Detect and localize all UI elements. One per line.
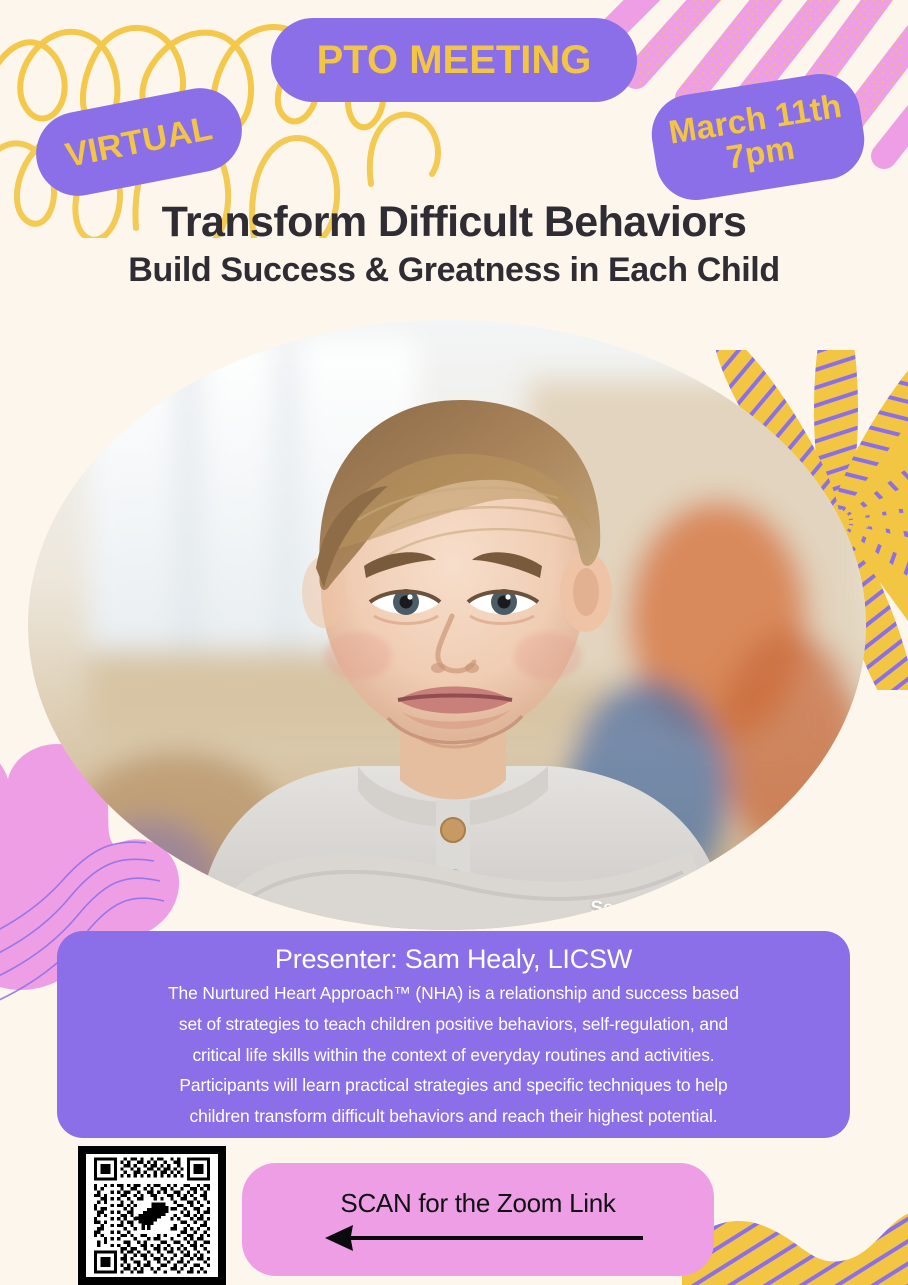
qr-code[interactable] <box>78 1146 226 1285</box>
badge-pto-meeting-label: PTO MEETING <box>317 40 592 81</box>
badge-pto-meeting: PTO MEETING <box>271 18 637 102</box>
hero-photo: Second Step® <box>28 320 866 930</box>
presenter-name: Presenter: Sam Healy, LICSW <box>79 941 828 977</box>
arrow-left-icon <box>313 1225 643 1251</box>
badge-date-time: March 11th 7pm <box>646 68 870 206</box>
dinosaur-icon <box>135 1201 170 1234</box>
hero-photo-image <box>28 320 866 930</box>
description-line: Participants will learn practical strate… <box>79 1070 828 1101</box>
info-panel: Presenter: Sam Healy, LICSW The Nurtured… <box>57 931 850 1138</box>
headline-main: Transform Difficult Behaviors <box>0 198 908 246</box>
description-line: The Nurtured Heart Approach™ (NHA) is a … <box>79 978 828 1009</box>
description-line: critical life skills within the context … <box>79 1040 828 1071</box>
page-title: Transform Difficult Behaviors Build Succ… <box>0 198 908 291</box>
badge-virtual: VIRTUAL <box>29 81 249 203</box>
poster-canvas: PTO MEETING VIRTUAL March 11th 7pm Trans… <box>0 0 908 1285</box>
description-line: children transform difficult behaviors a… <box>79 1101 828 1132</box>
headline-sub: Build Success & Greatness in Each Child <box>0 250 908 291</box>
description-line: set of strategies to teach children posi… <box>79 1009 828 1040</box>
yellow-striped-ribbon-icon <box>682 1156 908 1285</box>
description-text: The Nurtured Heart Approach™ (NHA) is a … <box>79 978 828 1131</box>
photo-watermark: Second Step® <box>591 898 716 920</box>
scan-cta-label: SCAN for the Zoom Link <box>340 1188 615 1219</box>
badge-virtual-label: VIRTUAL <box>63 111 216 173</box>
scan-cta-button[interactable]: SCAN for the Zoom Link <box>242 1163 714 1276</box>
